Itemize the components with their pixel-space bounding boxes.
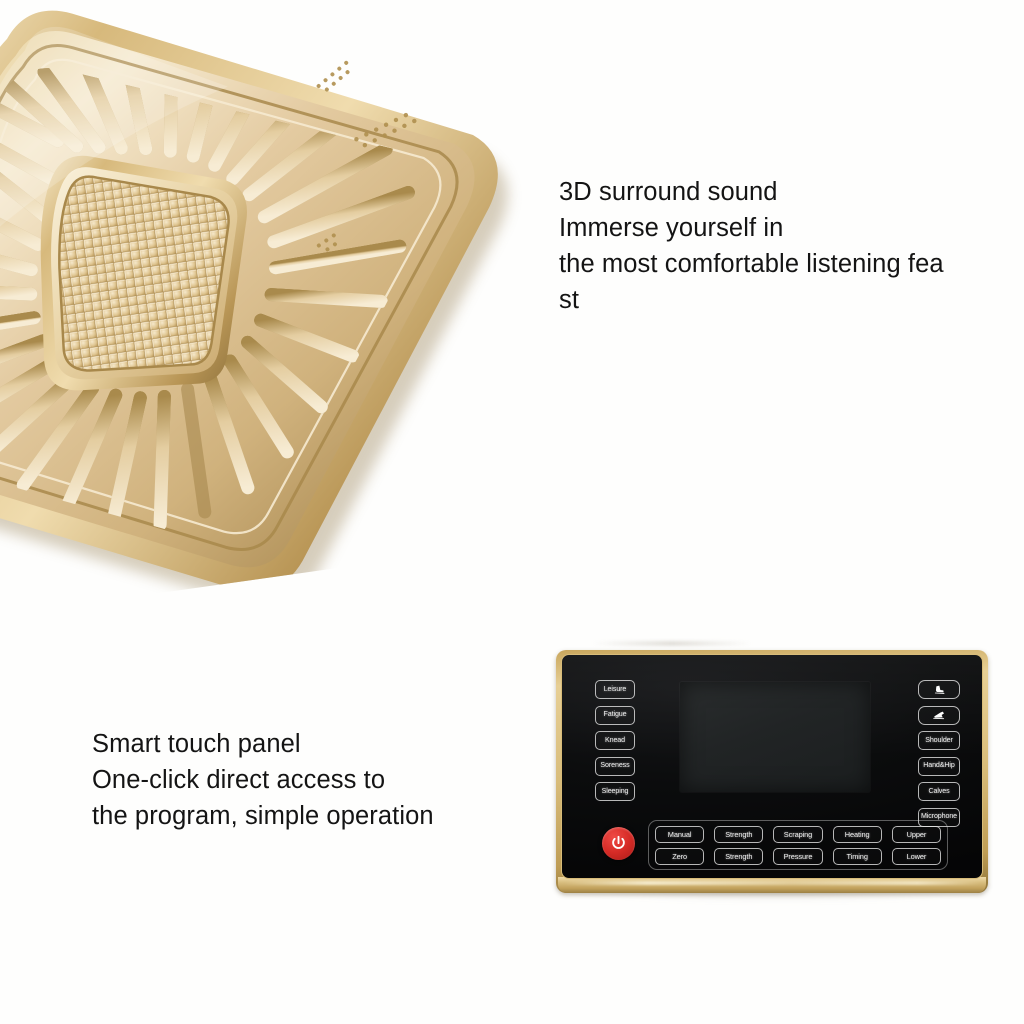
speaker-grille: [0, 0, 621, 626]
program-button-leisure[interactable]: Leisure: [595, 680, 635, 699]
function-button-zero[interactable]: Zero: [655, 848, 704, 865]
function-button-group: Manual Strength Scraping Heating Upper Z…: [648, 820, 948, 870]
program-button-column-left: Leisure Fatigue Knead Soreness Sleeping: [595, 680, 635, 801]
feature-text-3d-surround-sound: 3D surround sound Immerse yourself in th…: [559, 174, 1024, 318]
control-panel: Leisure Fatigue Knead Soreness Sleeping: [556, 650, 988, 893]
program-button-knead[interactable]: Knead: [595, 731, 635, 750]
function-button-timing[interactable]: Timing: [833, 848, 882, 865]
program-button-sleeping[interactable]: Sleeping: [595, 782, 635, 801]
power-icon: [610, 835, 627, 852]
feature-text-smart-touch-panel: Smart touch panel One-click direct acces…: [92, 726, 512, 834]
function-button-lower[interactable]: Lower: [892, 848, 941, 865]
function-button-grid: Manual Strength Scraping Heating Upper Z…: [655, 826, 941, 865]
function-button-strength-down[interactable]: Strength: [714, 848, 763, 865]
program-button-fatigue[interactable]: Fatigue: [595, 706, 635, 725]
power-button[interactable]: [602, 827, 635, 860]
product-feature-collage: 3D surround sound Immerse yourself in th…: [0, 0, 1024, 1024]
function-button-scraping[interactable]: Scraping: [773, 826, 822, 843]
control-button-shoulder[interactable]: Shoulder: [918, 731, 960, 750]
panel-bottom-lip: [558, 877, 986, 893]
control-button-hand-hip[interactable]: Hand&Hip: [918, 757, 960, 776]
display-screen[interactable]: [680, 682, 870, 792]
panel-glass-face: Leisure Fatigue Knead Soreness Sleeping: [561, 654, 983, 879]
speaker-grille-svg: [0, 0, 621, 626]
chair-recline-down-button[interactable]: [918, 706, 960, 725]
function-button-pressure[interactable]: Pressure: [773, 848, 822, 865]
chair-recline-up-button[interactable]: [918, 680, 960, 699]
chair-recline-down-icon: [929, 709, 949, 721]
function-button-heating[interactable]: Heating: [833, 826, 882, 843]
panel-top-reflection: [592, 641, 752, 646]
function-button-upper[interactable]: Upper: [892, 826, 941, 843]
chair-recline-up-icon: [929, 684, 949, 696]
control-button-column-right: Shoulder Hand&Hip Calves Microphone: [918, 680, 960, 827]
control-button-calves[interactable]: Calves: [918, 782, 960, 801]
function-button-strength-up[interactable]: Strength: [714, 826, 763, 843]
function-button-manual[interactable]: Manual: [655, 826, 704, 843]
program-button-soreness[interactable]: Soreness: [595, 757, 635, 776]
